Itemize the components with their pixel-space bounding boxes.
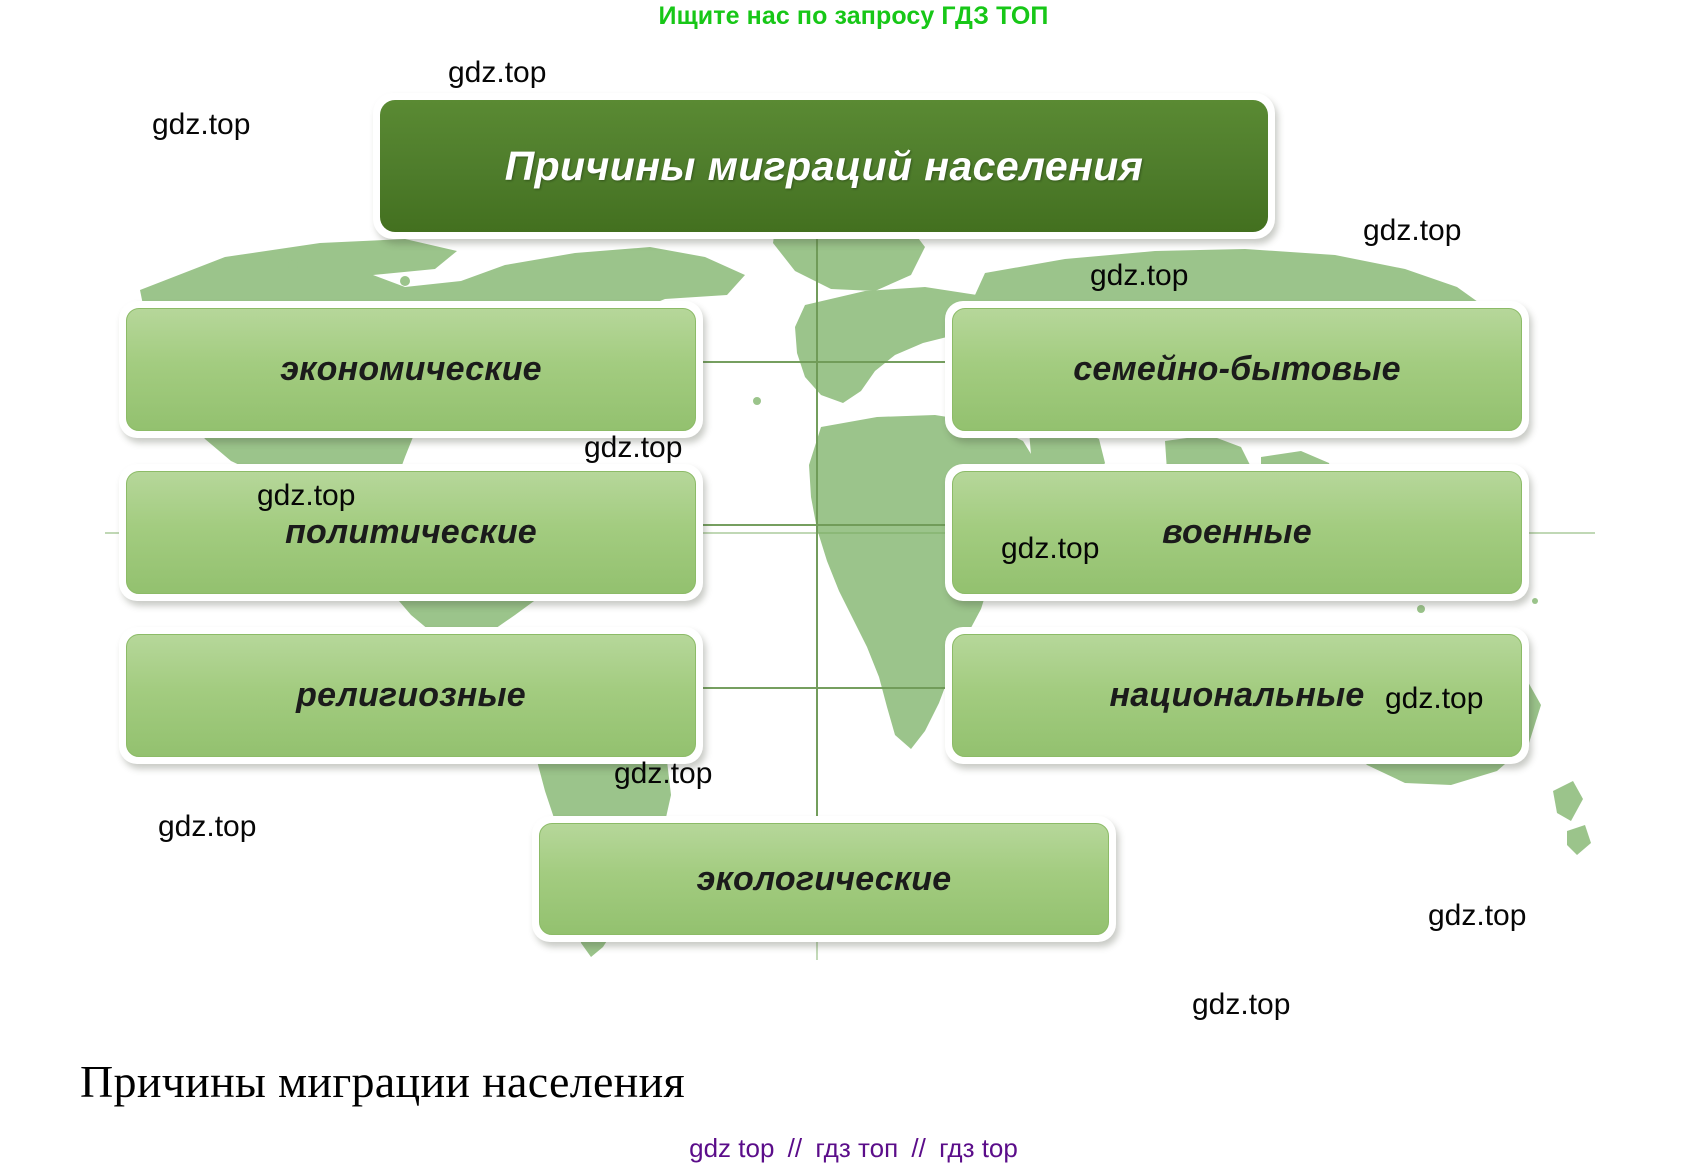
node-root-label: Причины миграций населения [505,143,1144,190]
node-national-label: национальные [1109,676,1364,715]
footer-item-2[interactable]: гдз топ [815,1133,898,1163]
node-military[interactable]: военные [945,464,1529,601]
node-economic[interactable]: экономические [119,301,703,438]
node-religious[interactable]: религиозные [119,627,703,764]
node-economic-label: экономические [280,350,542,389]
migration-causes-diagram: Причины миграций населения экономические… [105,195,1595,960]
watermark-2: gdz.top [152,108,250,142]
node-family-domestic[interactable]: семейно-бытовые [945,301,1529,438]
node-ecological-label: экологические [697,860,952,899]
footer-links: gdz top // гдз топ // гдз top [0,1133,1707,1164]
footer-item-3[interactable]: гдз top [939,1133,1018,1163]
node-ecological[interactable]: экологические [532,816,1116,942]
footer-separator-1: // [782,1133,808,1163]
node-military-label: военные [1162,513,1312,552]
promo-banner: Ищите нас по запросу ГДЗ ТОП [0,2,1707,31]
footer-item-1[interactable]: gdz top [689,1133,774,1163]
node-political[interactable]: политические [119,464,703,601]
figure-caption: Причины миграции населения [80,1055,685,1108]
node-national[interactable]: национальные [945,627,1529,764]
node-religious-label: религиозные [296,676,526,715]
watermark-12: gdz.top [1192,988,1290,1022]
watermark-1: gdz.top [448,56,546,90]
node-political-label: политические [285,513,537,552]
node-family-domestic-label: семейно-бытовые [1073,350,1400,389]
node-root[interactable]: Причины миграций населения [373,93,1275,239]
footer-separator-2: // [905,1133,931,1163]
